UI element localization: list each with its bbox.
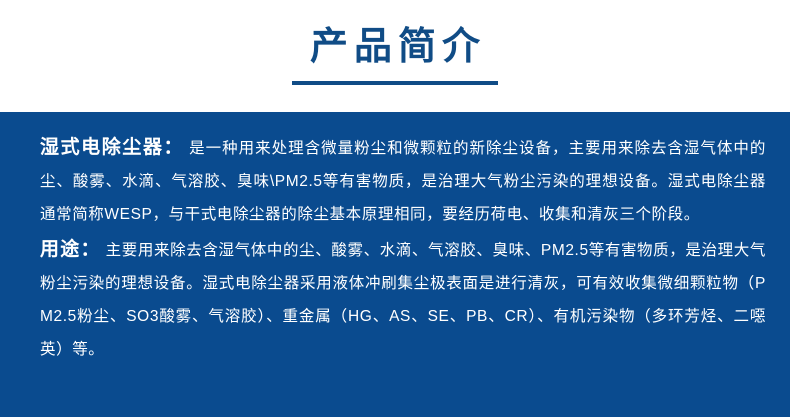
page-title: 产品简介 (304, 24, 486, 70)
product-intro-panel: 湿式电除尘器：是一种用来处理含微量粉尘和微颗粒的新除尘设备，主要用来除去含湿气体… (0, 112, 790, 417)
paragraph-label-wet-esp: 湿式电除尘器： (40, 137, 184, 158)
paragraph-wet-esp: 湿式电除尘器：是一种用来处理含微量粉尘和微颗粒的新除尘设备，主要用来除去含湿气体… (40, 131, 766, 231)
product-intro-page: 产品简介 湿式电除尘器：是一种用来处理含微量粉尘和微颗粒的新除尘设备，主要用来除… (0, 0, 790, 417)
paragraph-label-usage: 用途： (40, 239, 101, 260)
page-header: 产品简介 (0, 0, 790, 112)
paragraph-body-usage: 主要用来除去含湿气体中的尘、酸雾、水滴、气溶胶、臭味、PM2.5等有害物质，是治… (40, 242, 766, 358)
paragraph-usage: 用途：主要用来除去含湿气体中的尘、酸雾、水滴、气溶胶、臭味、PM2.5等有害物质… (40, 233, 766, 366)
title-underline-rule (292, 81, 498, 85)
